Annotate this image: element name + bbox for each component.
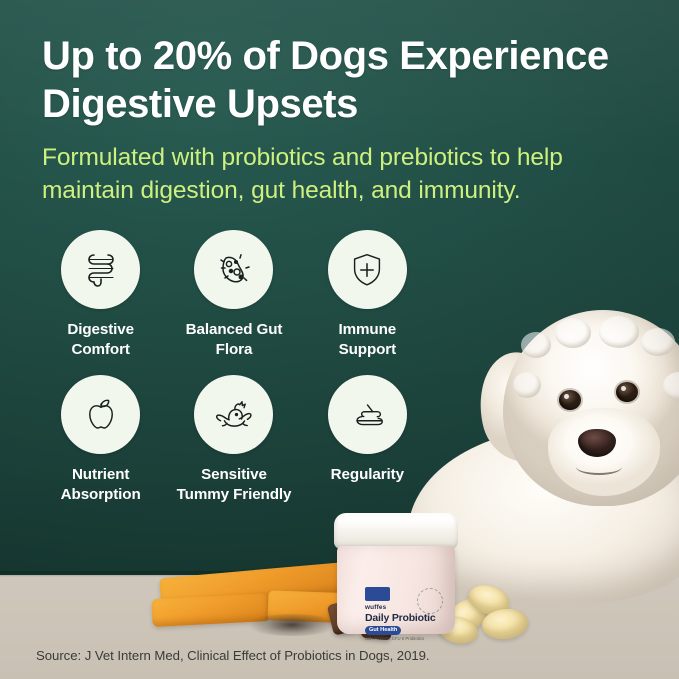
brand-logo-badge — [365, 587, 390, 601]
page-subtitle: Formulated with probiotics and prebiotic… — [42, 142, 622, 207]
bacteria-icon — [194, 230, 273, 309]
shield-plus-icon — [328, 230, 407, 309]
feature-row-1: Digestive Comfort Balanced Gut Flora — [34, 230, 434, 360]
feature-sensitive-tummy[interactable]: Sensitive Tummy Friendly — [167, 375, 300, 505]
feature-digestive-comfort[interactable]: Digestive Comfort — [34, 230, 167, 360]
product-claim: with Probiotic CFU 5 Probiotics — [365, 636, 435, 643]
product-badge: Gut Health — [365, 626, 401, 635]
dog-eye-left — [559, 390, 581, 410]
feature-row-2: Nutrient Absorption Sensitive Tum — [34, 375, 434, 505]
dog-lying-icon — [194, 375, 273, 454]
feature-label: Immune Support — [339, 320, 397, 360]
stool-icon — [328, 375, 407, 454]
source-citation: Source: J Vet Intern Med, Clinical Effec… — [36, 648, 430, 663]
dog-mouth — [576, 459, 622, 475]
feature-label: Balanced Gut Flora — [186, 320, 283, 360]
infographic-canvas: Up to 20% of Dogs Experience Digestive U… — [0, 0, 679, 679]
quality-seal-icon — [417, 588, 443, 614]
feature-label: Sensitive Tummy Friendly — [177, 465, 292, 505]
page-title: Up to 20% of Dogs Experience Digestive U… — [42, 33, 642, 128]
feature-regularity[interactable]: Regularity — [301, 375, 434, 505]
feature-label: Digestive Comfort — [67, 320, 134, 360]
feature-nutrient-absorption[interactable]: Nutrient Absorption — [34, 375, 167, 505]
feature-grid: Digestive Comfort Balanced Gut Flora — [34, 230, 434, 505]
feature-label: Nutrient Absorption — [61, 465, 141, 505]
product-name: Daily Probiotic — [365, 612, 436, 624]
jar-body: wuffes Daily Probiotic Gut Health with P… — [337, 546, 455, 634]
chia-seeds-pile — [244, 614, 340, 636]
feature-immune-support[interactable]: Immune Support — [301, 230, 434, 360]
product-brand: wuffes — [365, 604, 386, 611]
jar-lid — [334, 513, 458, 549]
dog-eye-right — [616, 382, 638, 402]
feature-balanced-gut-flora[interactable]: Balanced Gut Flora — [167, 230, 300, 360]
product-jar: wuffes Daily Probiotic Gut Health with P… — [334, 513, 458, 636]
apple-icon — [61, 375, 140, 454]
feature-label: Regularity — [331, 465, 404, 485]
intestine-icon — [61, 230, 140, 309]
